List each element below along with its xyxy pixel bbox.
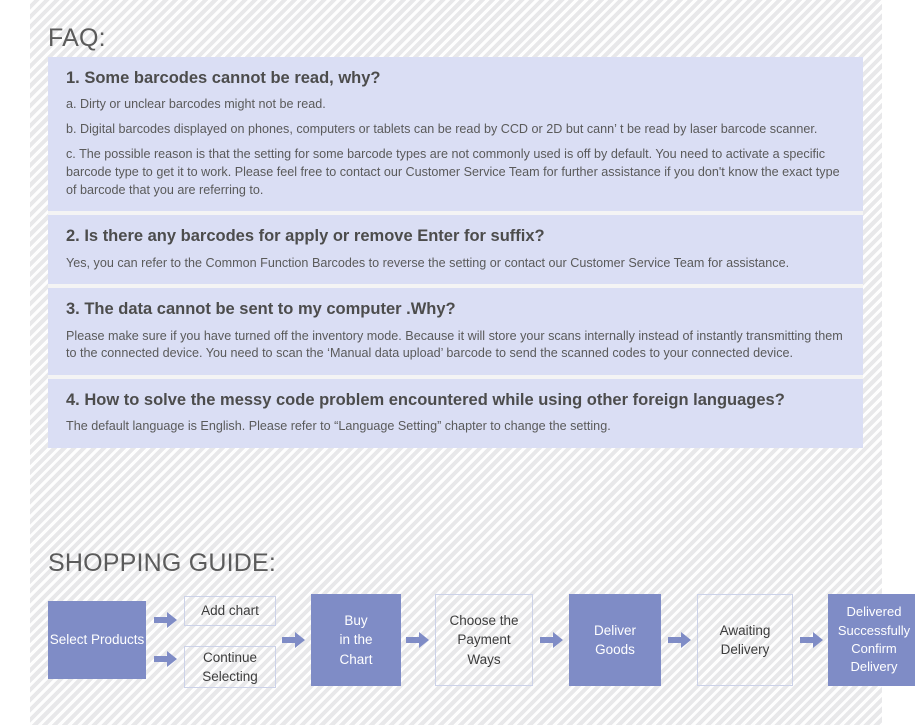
- flow-arrow-icon: [154, 650, 178, 668]
- faq-answer: Please make sure if you have turned off …: [66, 328, 845, 364]
- page-content: FAQ: 1. Some barcodes cannot be read, wh…: [0, 0, 915, 725]
- flow-node-awaiting-delivery: Awaiting Delivery: [697, 594, 793, 686]
- faq-answer: Yes, you can refer to the Common Functio…: [66, 255, 845, 273]
- faq-answer: a. Dirty or unclear barcodes might not b…: [66, 96, 845, 114]
- faq-question: 3. The data cannot be sent to my compute…: [66, 299, 845, 320]
- flow-node-deliver-goods: Deliver Goods: [569, 594, 661, 686]
- shopping-guide-section-title: SHOPPING GUIDE:: [48, 551, 276, 576]
- faq-answer: b. Digital barcodes displayed on phones,…: [66, 121, 845, 139]
- flow-node-delivered-confirm: Delivered Successfully Confirm Delivery: [828, 594, 915, 686]
- page-root: FAQ: 1. Some barcodes cannot be read, wh…: [0, 0, 915, 725]
- flow-arrow-icon: [154, 611, 178, 629]
- faq-question: 2. Is there any barcodes for apply or re…: [66, 226, 845, 247]
- flow-node-choose-payment-ways: Choose the Payment Ways: [435, 594, 533, 686]
- flow-node-select-products: Select Products: [48, 601, 146, 679]
- faq-panel: 1. Some barcodes cannot be read, why? a.…: [48, 57, 863, 448]
- flow-arrow-icon: [800, 631, 824, 649]
- shopping-guide-flowchart: Select Products Add chart Continue Selec…: [48, 590, 878, 690]
- faq-item: 3. The data cannot be sent to my compute…: [48, 288, 863, 375]
- faq-item: 4. How to solve the messy code problem e…: [48, 379, 863, 448]
- faq-question: 4. How to solve the messy code problem e…: [66, 390, 845, 411]
- faq-item: 2. Is there any barcodes for apply or re…: [48, 215, 863, 284]
- flow-arrow-icon: [406, 631, 430, 649]
- flow-arrow-icon: [282, 631, 306, 649]
- faq-question: 1. Some barcodes cannot be read, why?: [66, 68, 845, 89]
- flow-node-buy-in-the-chart: Buy in the Chart: [311, 594, 401, 686]
- faq-item: 1. Some barcodes cannot be read, why? a.…: [48, 57, 863, 211]
- flow-node-continue-selecting: Continue Selecting: [184, 646, 276, 688]
- faq-answer: c. The possible reason is that the setti…: [66, 146, 845, 200]
- flow-arrow-icon: [668, 631, 692, 649]
- faq-answer: The default language is English. Please …: [66, 418, 845, 436]
- flow-arrow-icon: [540, 631, 564, 649]
- faq-section-title: FAQ:: [48, 26, 106, 51]
- flow-node-add-chart: Add chart: [184, 596, 276, 626]
